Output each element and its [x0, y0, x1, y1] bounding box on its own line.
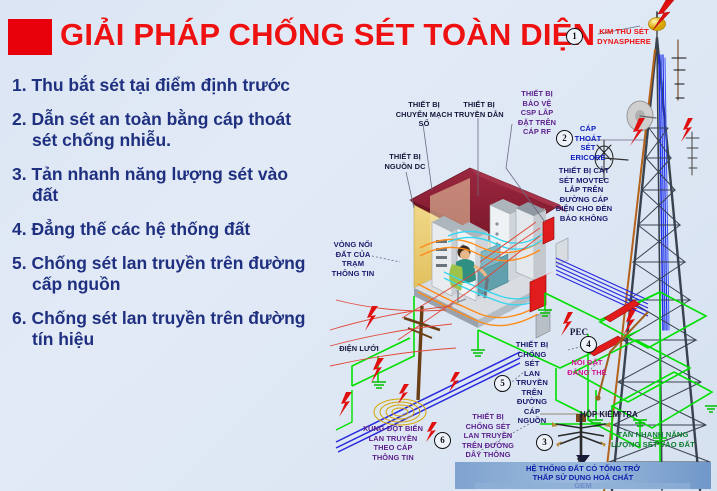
label-kim-thu-set: KIM THU SÉT DYNASPHERE	[584, 27, 664, 46]
label-dien-luoi: ĐIỆN LƯỚI	[332, 344, 386, 354]
title-accent-square	[8, 19, 52, 55]
list-item-text-cont: đất	[12, 185, 342, 206]
list-item: 1. Thu bắt sét tại điểm định trước	[12, 75, 342, 96]
movtec-unit	[556, 238, 568, 266]
slide-canvas: GIẢI PHÁP CHỐNG SÉT TOÀN DIỆN 1. Thu bắt…	[0, 0, 717, 491]
list-item: 5. Chống sét lan truyền trên đường cấp n…	[12, 253, 342, 295]
list-item-text-cont: tín hiệu	[12, 329, 342, 350]
list-item-number: 6.	[12, 308, 27, 328]
list-item-text: Chống sét lan truyền trên đường	[31, 253, 305, 273]
callout-5[interactable]: 5	[494, 375, 511, 392]
callout-2[interactable]: 2	[556, 130, 573, 147]
equipment-shelter	[398, 168, 568, 340]
list-item-text: Thu bắt sét tại điểm định trước	[31, 75, 289, 95]
list-item-text: Đẳng thế các hệ thống đất	[31, 219, 250, 239]
label-vong-noi-dat: VÒNG NỐI ĐẤT CỦA TRẠM THÔNG TIN	[325, 240, 381, 278]
list-item-number: 4.	[12, 219, 27, 239]
label-spd-day-thong-tin: THIẾT BỊ CHỐNG SÉT LAN TRUYỀN TRÊN ĐƯỜNG…	[455, 412, 521, 469]
label-cap-thoat-set: CÁP THOÁT SÉT ERICORE	[566, 124, 610, 162]
list-item: 2. Dẫn sét an toàn bằng cáp thoát sét ch…	[12, 109, 342, 151]
utility-pole	[404, 306, 440, 400]
callout-4[interactable]: 4	[580, 336, 597, 353]
list-item: 6. Chống sét lan truyền trên đường tín h…	[12, 308, 342, 350]
list-item-text: Tản nhanh năng lượng sét vào	[31, 164, 288, 184]
callout-6[interactable]: 6	[434, 432, 451, 449]
label-csp-rf: THIẾT BỊ BẢO VỆ CSP LẮP ĐẶT TRÊN CÁP RF	[510, 89, 564, 137]
list-item: 4. Đẳng thế các hệ thống đất	[12, 219, 342, 240]
label-xung-dot-bien: XUNG ĐỘT BIẾN LAN TRUYỀN THEO CÁP THÔNG …	[356, 424, 430, 462]
callout-1[interactable]: 1	[566, 28, 583, 45]
label-thiet-bi-cat-set: THIẾT BỊ CẮT SÉT MOVTEC LẮP TRÊN ĐƯỜNG C…	[553, 166, 615, 223]
list-item-number: 1.	[12, 75, 27, 95]
label-chuyen-mach-so: THIẾT BỊ CHUYỂN MẠCH SỐ	[386, 100, 462, 129]
page-title: GIẢI PHÁP CHỐNG SÉT TOÀN DIỆN	[60, 14, 595, 56]
mains-conductors	[330, 300, 456, 366]
label-thiet-bi-nguon-dc: THIẾT BỊ NGUỒN DC	[374, 152, 436, 171]
list-item: 3. Tản nhanh năng lượng sét vào đất	[12, 164, 342, 206]
solution-list: 1. Thu bắt sét tại điểm định trước 2. Dẫ…	[12, 75, 342, 363]
bond-point	[595, 395, 600, 400]
label-tan-nhanh: TẢN NHANH NĂNG LƯỢNG SÉT VÀO ĐẤT	[604, 430, 702, 449]
list-item-number: 2.	[12, 109, 27, 129]
slide-title-bar: GIẢI PHÁP CHỐNG SÉT TOÀN DIỆN	[0, 14, 600, 58]
label-hop-kiem-tra: HỘP KIỂM TRA	[578, 410, 640, 420]
list-item-number: 5.	[12, 253, 27, 273]
label-noi-dat-dang-the: NỐI ĐẤT ĐẲNG THẾ	[564, 358, 610, 377]
list-item-text: Chống sét lan truyền trên đường	[31, 308, 305, 328]
list-item-text-cont: sét chống nhiễu.	[12, 130, 342, 151]
callout-3[interactable]: 3	[536, 434, 553, 451]
pole-earth	[336, 390, 352, 430]
list-item-text: Dẫn sét an toàn bằng cáp thoát	[31, 109, 291, 129]
list-item-number: 3.	[12, 164, 27, 184]
banner-shadow	[475, 483, 690, 489]
list-item-text-cont: cấp nguồn	[12, 274, 342, 295]
